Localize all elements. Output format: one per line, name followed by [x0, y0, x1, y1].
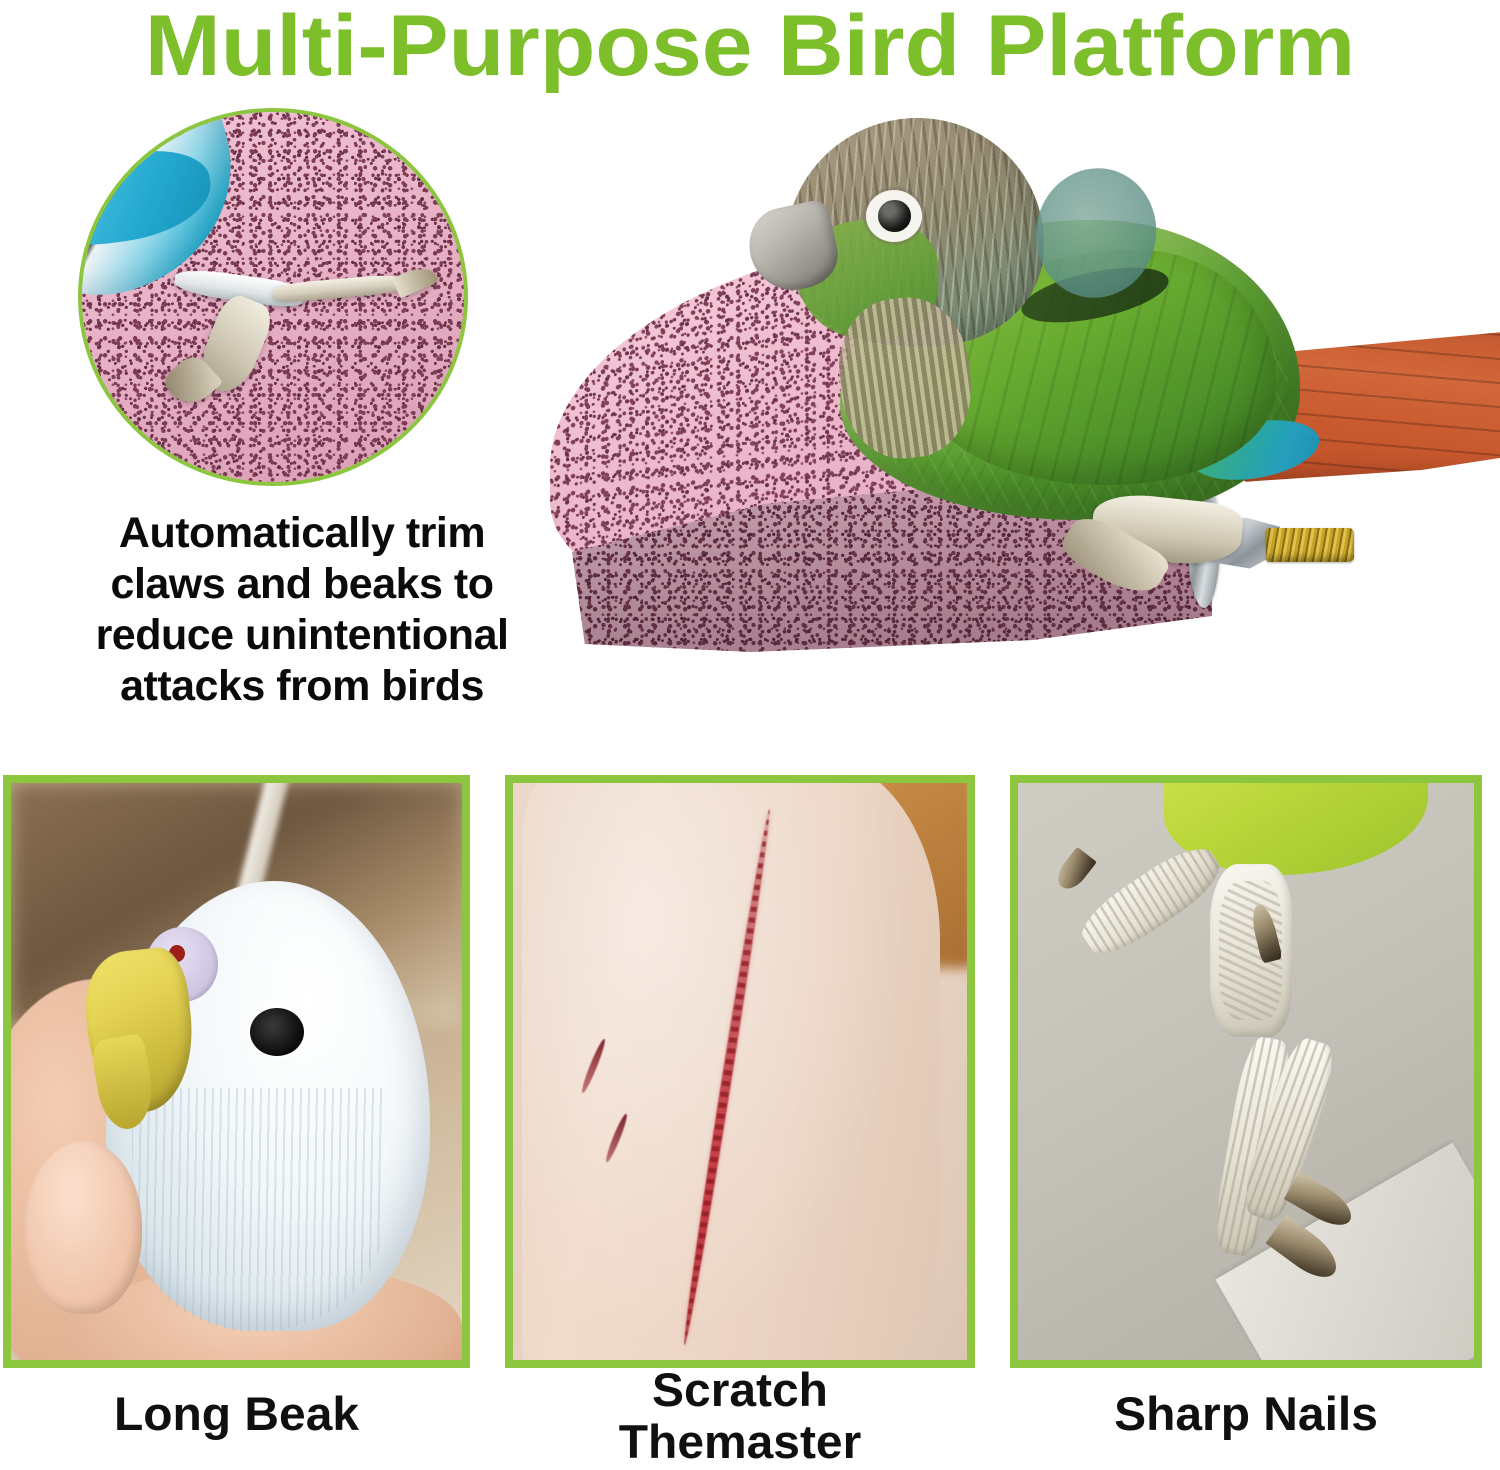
green-cheeked-conure [690, 100, 1490, 570]
caption-line: Themaster [500, 1416, 979, 1468]
caption-line: Long Beak [0, 1388, 475, 1440]
caption-sharp-nails: Sharp Nails [1005, 1388, 1486, 1440]
human-thumb [25, 1141, 142, 1314]
conure-foot [1089, 490, 1245, 569]
benefit-caption-line: reduce unintentional [28, 610, 576, 661]
page-title: Multi-Purpose Bird Platform [0, 0, 1500, 96]
photo-frame-long-beak [3, 775, 470, 1368]
budgie-foot-closeup-inset [78, 108, 468, 486]
conure-eye [866, 190, 922, 242]
photo-long-beak [11, 783, 462, 1360]
benefit-caption-line: attacks from birds [28, 661, 576, 712]
photo-frame-sharp-nails [1010, 775, 1482, 1368]
photo-sharp-nails [1018, 783, 1474, 1360]
photo-scratch [513, 783, 967, 1360]
benefit-caption: Automatically trim claws and beaks to re… [28, 508, 576, 712]
caption-line: Scratch [500, 1364, 979, 1416]
hero-product-photo [540, 100, 1490, 760]
benefit-caption-line: Automatically trim [28, 508, 576, 559]
caption-long-beak: Long Beak [0, 1388, 475, 1440]
benefit-caption-line: claws and beaks to [28, 559, 576, 610]
photo-frame-scratch [505, 775, 975, 1368]
sharp-claw [1052, 847, 1097, 895]
caption-line: Sharp Nails [1005, 1388, 1486, 1440]
caption-scratch: Scratch Themaster [500, 1364, 979, 1468]
budgie-toe-upper [1071, 836, 1229, 966]
